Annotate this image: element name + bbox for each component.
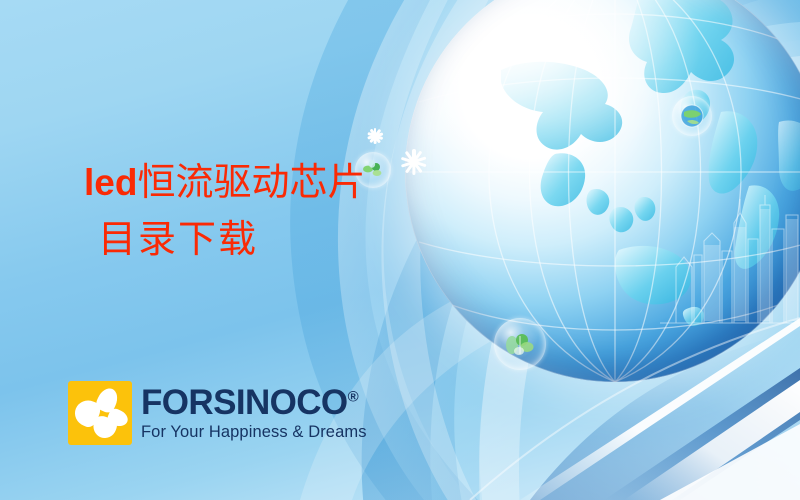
logo-tagline: For Your Happiness & Dreams — [141, 424, 367, 441]
logo-name: FORSINOCO® — [141, 385, 367, 420]
four-petal-pinwheel-icon — [68, 381, 132, 445]
bubble-icon-right — [672, 96, 712, 136]
headline-line-2: 目录下载 — [98, 220, 365, 261]
bubble-leaf-icon — [494, 318, 546, 370]
headline-latin: led — [84, 162, 137, 203]
starburst-icon-small — [366, 127, 384, 145]
headline-cjk: 恒流驱动芯片 — [137, 162, 365, 204]
logo-name-word: FORSINOCO — [141, 383, 348, 422]
registered-trademark-icon: ® — [348, 389, 359, 406]
logo-text-block: FORSINOCO® For Your Happiness & Dreams — [141, 385, 367, 441]
promo-banner: led恒流驱动芯片 目录下载 FORSINOCO® For Your Happi… — [0, 0, 800, 500]
starburst-icon-large — [400, 148, 428, 176]
headline-text: led恒流驱动芯片 目录下载 — [84, 163, 365, 261]
brand-logo: FORSINOCO® For Your Happiness & Dreams — [68, 381, 367, 445]
bubble-icon-middle — [494, 318, 546, 370]
headline-line-1: led恒流驱动芯片 — [84, 163, 365, 204]
bubble-globe-icon — [672, 96, 712, 136]
